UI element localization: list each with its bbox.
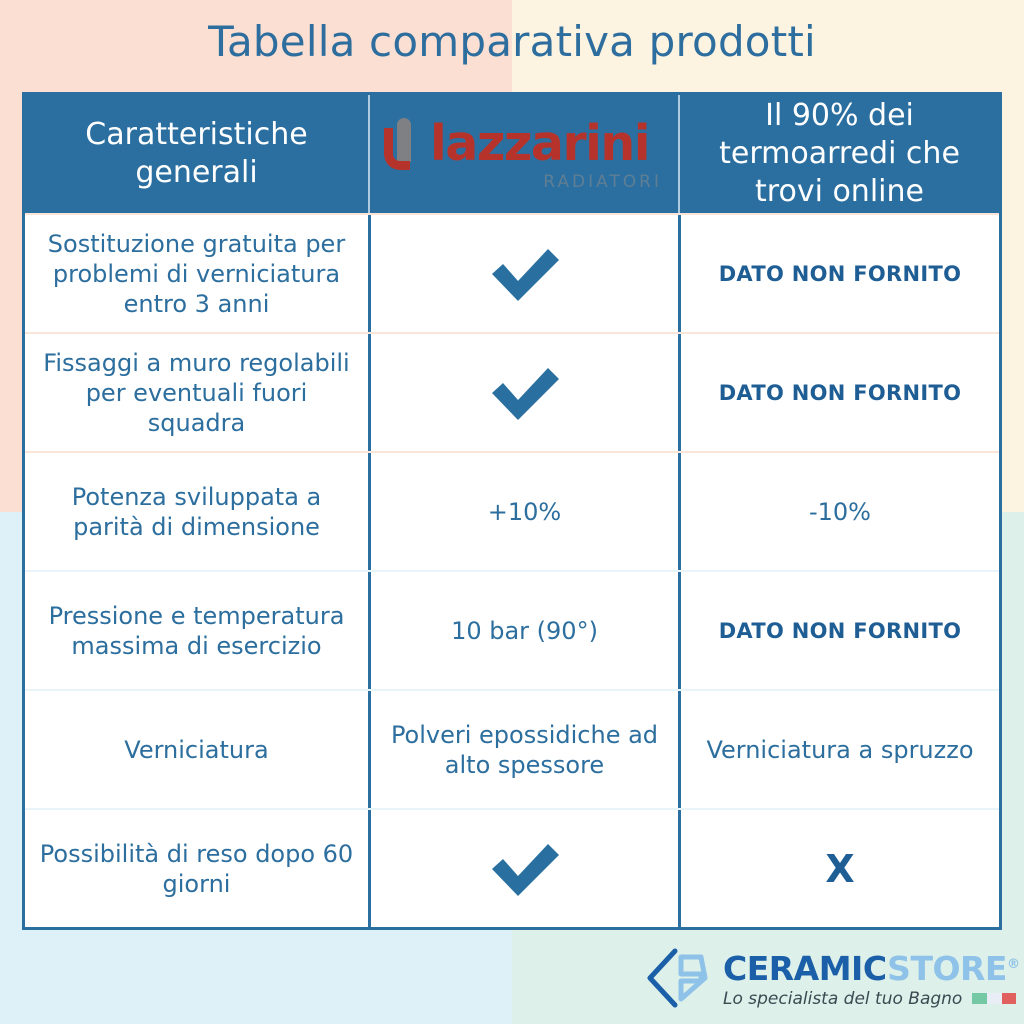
- table-header-row: Caratteristiche generali lazzarini RADIA…: [25, 95, 999, 213]
- competitor-value: DATO NON FORNITO: [678, 215, 999, 332]
- check-icon: [486, 840, 564, 898]
- table-row: Verniciatura Polveri epossidiche ad alto…: [25, 689, 999, 808]
- ceramicstore-text-block: CERAMICSTORE® Lo specialista del tuo Bag…: [723, 948, 1019, 1009]
- brand-part-ceramic: CERAMIC: [723, 949, 887, 988]
- ceramicstore-logo[interactable]: CERAMICSTORE® Lo specialista del tuo Bag…: [645, 944, 1005, 1012]
- table-row: Pressione e temperatura massima di eserc…: [25, 570, 999, 689]
- lazzarini-value: [368, 810, 678, 927]
- lazzarini-subtitle: RADIATORI: [543, 172, 662, 192]
- lazzarini-logo: lazzarini RADIATORI: [382, 111, 666, 197]
- lazzarini-value: [368, 215, 678, 332]
- feature-label: Verniciatura: [25, 691, 368, 808]
- registered-mark: ®: [1007, 957, 1020, 972]
- competitor-value: DATO NON FORNITO: [678, 572, 999, 689]
- competitor-value: DATO NON FORNITO: [678, 334, 999, 451]
- header-cell-competitors: Il 90% dei termoarredi che trovi online: [678, 95, 999, 213]
- table-row: Sostituzione gratuita per problemi di ve…: [25, 213, 999, 332]
- lazzarini-value: +10%: [368, 453, 678, 570]
- page-title: Tabella comparativa prodotti: [0, 16, 1024, 68]
- tagline-row: Lo specialista del tuo Bagno: [723, 989, 1019, 1009]
- table-row: Potenza sviluppata a parità di dimension…: [25, 451, 999, 570]
- competitor-value: Verniciatura a spruzzo: [678, 691, 999, 808]
- lazzarini-wordmark: lazzarini: [430, 119, 649, 169]
- comparison-infographic: Tabella comparativa prodotti Caratterist…: [0, 0, 1024, 1024]
- competitor-value: -10%: [678, 453, 999, 570]
- feature-label: Fissaggi a muro regolabili per eventuali…: [25, 334, 368, 451]
- ceramicstore-wordmark: CERAMICSTORE®: [723, 948, 1019, 986]
- feature-label: Pressione e temperatura massima di eserc…: [25, 572, 368, 689]
- lazzarini-monogram-icon: [382, 116, 424, 172]
- ceramicstore-chevron-icon: [645, 947, 711, 1009]
- competitor-value: X: [678, 810, 999, 927]
- header-cell-features: Caratteristiche generali: [25, 95, 368, 213]
- feature-label: Potenza sviluppata a parità di dimension…: [25, 453, 368, 570]
- italian-flag-icon: [972, 993, 1016, 1004]
- comparison-table: Caratteristiche generali lazzarini RADIA…: [22, 92, 1002, 930]
- ceramicstore-tagline: Lo specialista del tuo Bagno: [723, 989, 962, 1009]
- lazzarini-value: Polveri epossidiche ad alto spessore: [368, 691, 678, 808]
- lazzarini-value: [368, 334, 678, 451]
- feature-label: Possibilità di reso dopo 60 giorni: [25, 810, 368, 927]
- table-row: Fissaggi a muro regolabili per eventuali…: [25, 332, 999, 451]
- brand-part-store: STORE: [887, 949, 1007, 988]
- feature-label: Sostituzione gratuita per problemi di ve…: [25, 215, 368, 332]
- table-row: Possibilità di reso dopo 60 giorni X: [25, 808, 999, 927]
- check-icon: [486, 364, 564, 422]
- header-cell-lazzarini: lazzarini RADIATORI: [368, 95, 678, 213]
- check-icon: [486, 245, 564, 303]
- lazzarini-logo-top: lazzarini: [382, 116, 649, 172]
- lazzarini-value: 10 bar (90°): [368, 572, 678, 689]
